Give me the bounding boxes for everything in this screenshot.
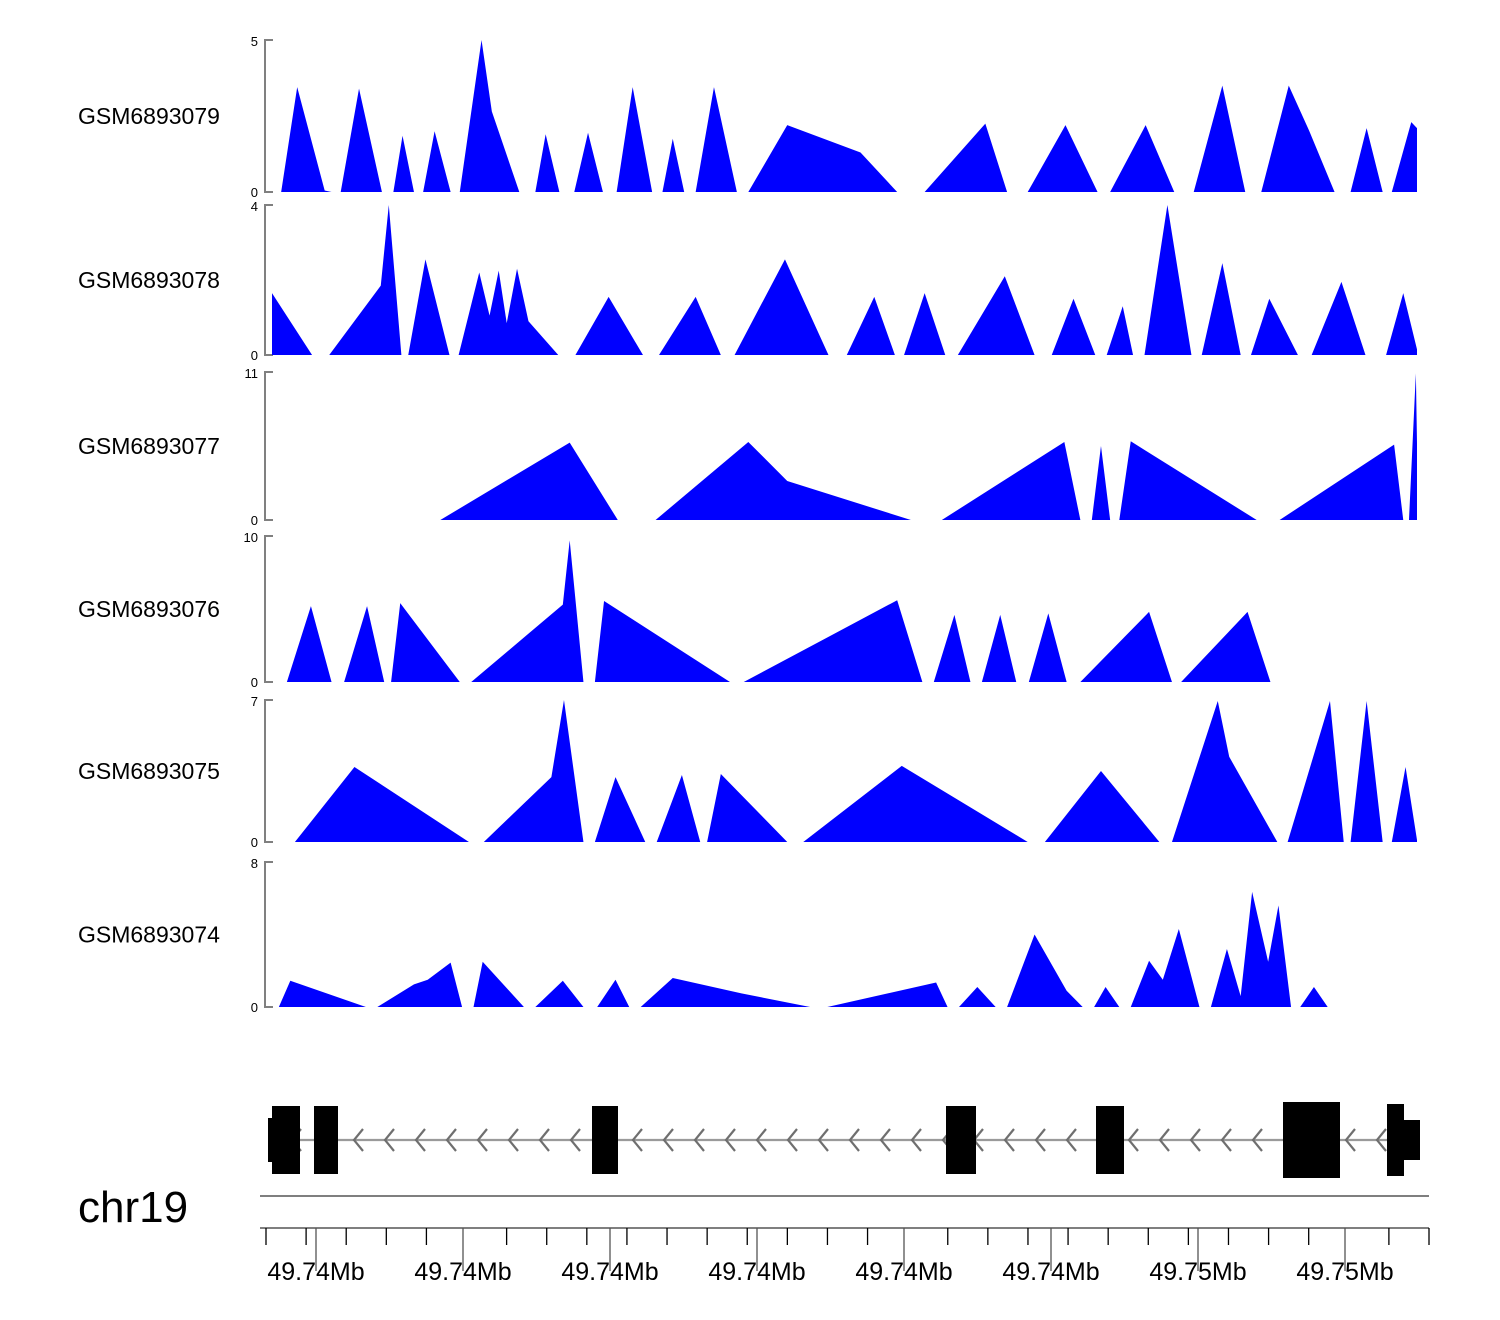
- genome-browser-figure: 50GSM689307940GSM6893078110GSM6893077100…: [0, 0, 1500, 1320]
- axis-tick-label: 49.74Mb: [708, 1258, 805, 1286]
- axis-min-value: 0: [251, 348, 258, 363]
- track-name-label: GSM6893077: [78, 433, 220, 459]
- axis-tick-label: 49.75Mb: [1296, 1258, 1393, 1286]
- axis-min-value: 0: [251, 513, 258, 528]
- axis-tick-label: 49.74Mb: [855, 1258, 952, 1286]
- canvas-background: [0, 0, 1500, 1320]
- axis-min-value: 0: [251, 185, 258, 200]
- exon-block: [592, 1106, 618, 1174]
- axis-tick-label: 49.74Mb: [561, 1258, 658, 1286]
- axis-max-value: 5: [251, 34, 258, 49]
- axis-tick-label: 49.74Mb: [1002, 1258, 1099, 1286]
- utr-block: [1404, 1120, 1420, 1160]
- axis-max-value: 4: [251, 199, 258, 214]
- axis-min-value: 0: [251, 675, 258, 690]
- axis-max-value: 10: [244, 530, 258, 545]
- track-name-label: GSM6893079: [78, 103, 220, 129]
- exon-block: [1283, 1102, 1340, 1178]
- axis-tick-label: 49.75Mb: [1149, 1258, 1246, 1286]
- exon-block: [1096, 1106, 1124, 1174]
- axis-max-value: 7: [251, 694, 258, 709]
- exon-block: [272, 1106, 300, 1174]
- exon-block: [314, 1106, 338, 1174]
- chromosome-label: chr19: [78, 1183, 188, 1232]
- axis-max-value: 8: [251, 856, 258, 871]
- axis-tick-label: 49.74Mb: [414, 1258, 511, 1286]
- track-name-label: GSM6893078: [78, 267, 220, 293]
- axis-max-value: 11: [245, 366, 259, 381]
- track-name-label: GSM6893075: [78, 758, 220, 784]
- exon-block: [1387, 1104, 1404, 1176]
- axis-min-value: 0: [251, 835, 258, 850]
- exon-block: [946, 1106, 976, 1174]
- axis-tick-label: 49.74Mb: [267, 1258, 364, 1286]
- track-name-label: GSM6893074: [78, 922, 220, 948]
- track-name-label: GSM6893076: [78, 596, 220, 622]
- axis-min-value: 0: [251, 1000, 258, 1015]
